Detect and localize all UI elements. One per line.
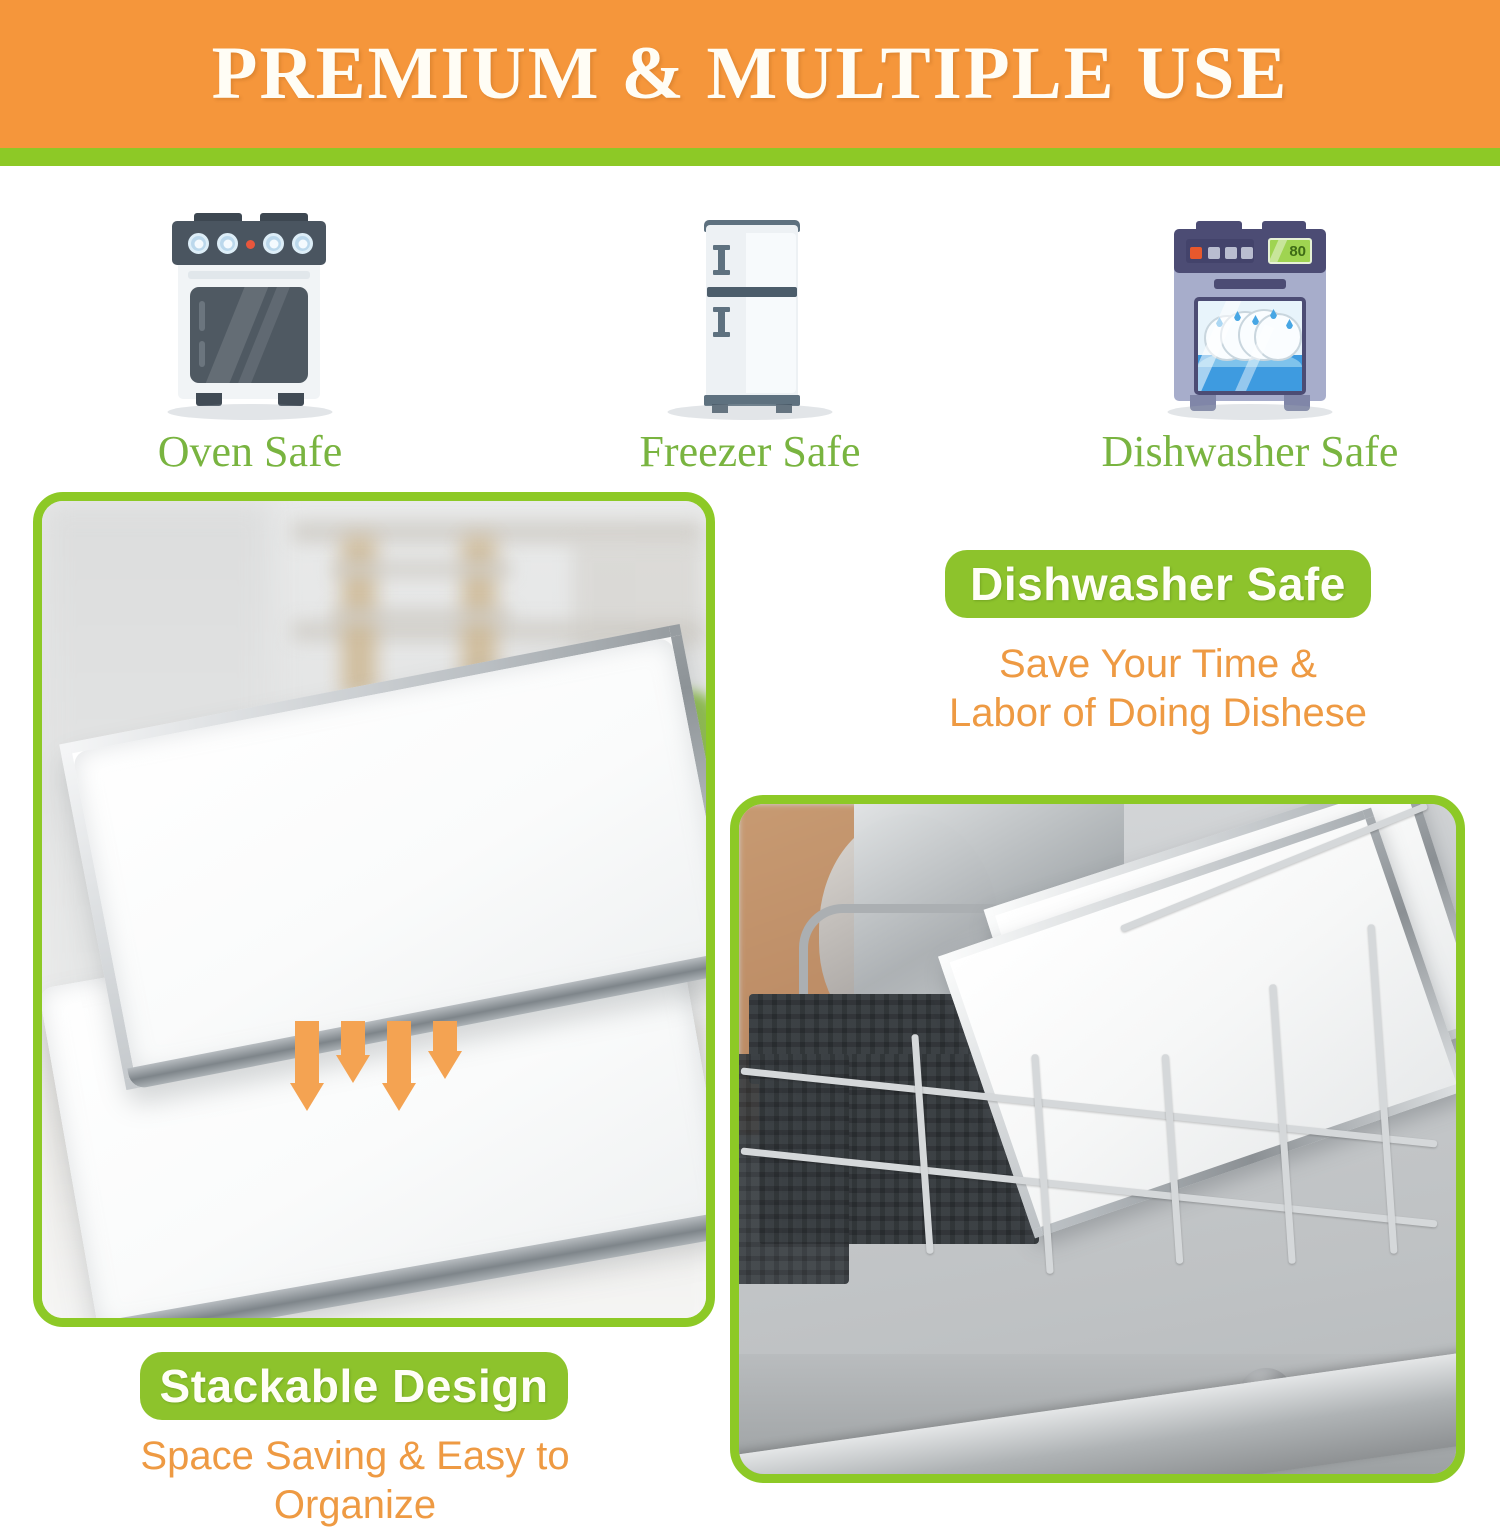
freezer-safe-label: Freezer Safe <box>639 426 860 477</box>
feature-icon-row: Oven Safe Freezer Safe <box>0 182 1500 477</box>
header-banner: PREMIUM & MULTIPLE USE <box>0 0 1500 148</box>
feature-dishwasher-safe: 80 Dishwasher Safe <box>1000 203 1500 477</box>
stackable-design-subtitle: Space Saving & Easy to Organize <box>60 1432 650 1530</box>
stacking-arrows <box>290 1021 550 1151</box>
oven-safe-label: Oven Safe <box>158 426 343 477</box>
stackable-design-badge: Stackable Design <box>140 1352 568 1420</box>
dishwasher-display: 80 <box>1268 238 1312 264</box>
dishwasher-interior <box>739 804 1456 1474</box>
down-arrow-icon <box>290 1021 324 1111</box>
header-divider <box>0 148 1500 166</box>
dishwasher-display-value: 80 <box>1289 243 1306 260</box>
feature-oven-safe: Oven Safe <box>0 203 500 477</box>
oven-icon <box>150 203 350 418</box>
dishwasher-safe-label: Dishwasher Safe <box>1102 426 1399 477</box>
dishwasher-safe-badge: Dishwasher Safe <box>945 550 1371 618</box>
feature-freezer-safe: Freezer Safe <box>500 203 1000 477</box>
down-arrow-icon <box>428 1021 462 1079</box>
down-arrow-icon <box>336 1021 370 1083</box>
dishwasher-icon: 80 <box>1150 203 1350 418</box>
dishwasher-subtitle-line-1: Save Your Time & <box>938 640 1378 689</box>
baking-sheets-in-dishwasher-photo <box>730 795 1465 1483</box>
freezer-icon <box>650 203 850 418</box>
dishwasher-subtitle-line-2: Labor of Doing Dishese <box>938 689 1378 738</box>
down-arrow-icon <box>382 1021 416 1111</box>
dishwasher-safe-subtitle: Save Your Time & Labor of Doing Dishese <box>938 640 1378 738</box>
stacked-baking-sheets-photo <box>33 492 715 1327</box>
page-title: PREMIUM & MULTIPLE USE <box>212 31 1289 117</box>
